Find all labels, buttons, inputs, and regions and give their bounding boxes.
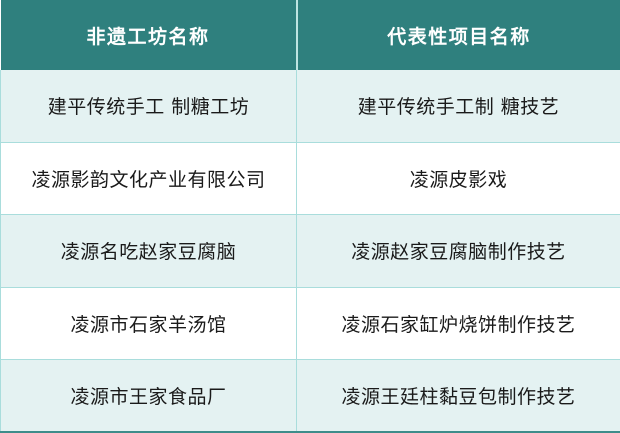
table-body: 建平传统手工 制糖工坊 建平传统手工制 糖技艺 凌源影韵文化产业有限公司 凌源皮…: [1, 70, 620, 432]
cell-project-name: 凌源王廷柱黏豆包制作技艺: [297, 360, 620, 432]
table-row: 凌源名吃赵家豆腐脑 凌源赵家豆腐脑制作技艺: [1, 215, 620, 287]
table-row: 建平传统手工 制糖工坊 建平传统手工制 糖技艺: [1, 70, 620, 142]
cell-workshop-name: 凌源市王家食品厂: [1, 360, 297, 432]
cell-workshop-name: 建平传统手工 制糖工坊: [1, 70, 297, 142]
cell-project-name: 凌源石家缸炉烧饼制作技艺: [297, 287, 620, 359]
table-row: 凌源市王家食品厂 凌源王廷柱黏豆包制作技艺: [1, 360, 620, 432]
heritage-workshop-table: 非遗工坊名称 代表性项目名称 建平传统手工 制糖工坊 建平传统手工制 糖技艺 凌…: [0, 0, 620, 433]
cell-project-name: 建平传统手工制 糖技艺: [297, 70, 620, 142]
cell-workshop-name: 凌源名吃赵家豆腐脑: [1, 215, 297, 287]
header-row: 非遗工坊名称 代表性项目名称: [1, 0, 620, 70]
table-row: 凌源市石家羊汤馆 凌源石家缸炉烧饼制作技艺: [1, 287, 620, 359]
column-header-workshop-name: 非遗工坊名称: [1, 0, 297, 70]
cell-project-name: 凌源皮影戏: [297, 142, 620, 214]
cell-project-name: 凌源赵家豆腐脑制作技艺: [297, 215, 620, 287]
table-row: 凌源影韵文化产业有限公司 凌源皮影戏: [1, 142, 620, 214]
cell-workshop-name: 凌源影韵文化产业有限公司: [1, 142, 297, 214]
column-header-project-name: 代表性项目名称: [297, 0, 620, 70]
cell-workshop-name: 凌源市石家羊汤馆: [1, 287, 297, 359]
table-header: 非遗工坊名称 代表性项目名称: [1, 0, 620, 70]
